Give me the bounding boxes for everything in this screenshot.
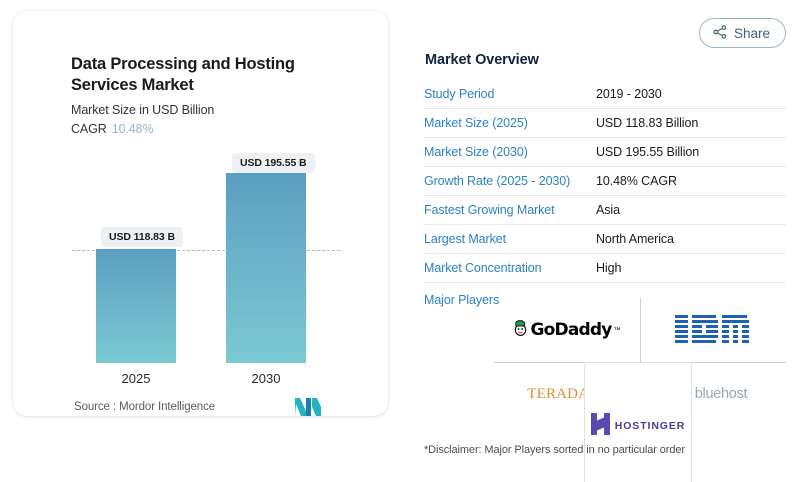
row-key: Market Size (2025) xyxy=(424,116,596,130)
x-axis-label-2025: 2025 xyxy=(96,371,176,386)
major-players-label: Major Players xyxy=(424,293,499,307)
table-row: Market Size (2025) USD 118.83 Billion xyxy=(424,109,786,138)
row-value: USD 195.55 Billion xyxy=(596,145,699,159)
mordor-intelligence-logo xyxy=(295,398,321,421)
godaddy-wordmark: GoDaddy xyxy=(530,320,611,340)
chart-card: Data Processing and Hosting Services Mar… xyxy=(13,11,388,416)
bluehost-wordmark: bluehost xyxy=(695,386,747,402)
godaddy-trademark: ™ xyxy=(614,327,621,334)
godaddy-mascot-icon xyxy=(513,319,528,341)
logo-ibm xyxy=(640,298,786,362)
bar-value-label-2025: USD 118.83 B xyxy=(101,227,183,247)
row-value: Asia xyxy=(596,203,620,217)
table-row: Market Concentration High xyxy=(424,254,786,283)
chart-source: Source : Mordor Intelligence xyxy=(74,401,215,413)
table-row: Growth Rate (2025 - 2030) 10.48% CAGR xyxy=(424,167,786,196)
table-row: Largest Market North America xyxy=(424,225,786,254)
share-icon xyxy=(713,25,727,42)
major-players-logo-grid: GoDaddy ™ xyxy=(494,298,786,426)
share-button-label: Share xyxy=(734,26,770,41)
players-disclaimer: *Disclaimer: Major Players sorted in no … xyxy=(424,444,685,456)
ibm-wordmark xyxy=(675,315,751,346)
row-key: Growth Rate (2025 - 2030) xyxy=(424,174,596,188)
row-key: Market Concentration xyxy=(424,261,596,275)
hostinger-h-icon xyxy=(591,413,610,440)
table-row: Fastest Growing Market Asia xyxy=(424,196,786,225)
logo-hostinger: HOSTINGER xyxy=(584,362,692,482)
table-row: Study Period 2019 - 2030 xyxy=(424,80,786,109)
logo-godaddy: GoDaddy ™ xyxy=(494,298,640,362)
page-root: Data Processing and Hosting Services Mar… xyxy=(0,0,800,482)
row-key: Fastest Growing Market xyxy=(424,203,596,217)
row-value: High xyxy=(596,261,621,275)
market-overview-title: Market Overview xyxy=(425,52,539,68)
row-key: Market Size (2030) xyxy=(424,145,596,159)
row-key: Largest Market xyxy=(424,232,596,246)
bar-2030[interactable] xyxy=(226,173,306,363)
row-value: 10.48% CAGR xyxy=(596,174,677,188)
row-key: Study Period xyxy=(424,87,596,101)
bar-value-label-2030: USD 195.55 B xyxy=(232,153,315,173)
hostinger-wordmark: HOSTINGER xyxy=(615,420,686,432)
row-value: North America xyxy=(596,232,674,246)
market-overview-table: Study Period 2019 - 2030 Market Size (20… xyxy=(424,80,786,283)
x-axis-label-2030: 2030 xyxy=(226,371,306,386)
row-value: 2019 - 2030 xyxy=(596,87,662,101)
row-value: USD 118.83 Billion xyxy=(596,116,698,130)
share-button[interactable]: Share xyxy=(699,18,786,48)
bar-2025[interactable] xyxy=(96,249,176,363)
bar-chart-plot: USD 118.83 B USD 195.55 B 2025 2030 xyxy=(13,11,388,416)
table-row: Market Size (2030) USD 195.55 Billion xyxy=(424,138,786,167)
